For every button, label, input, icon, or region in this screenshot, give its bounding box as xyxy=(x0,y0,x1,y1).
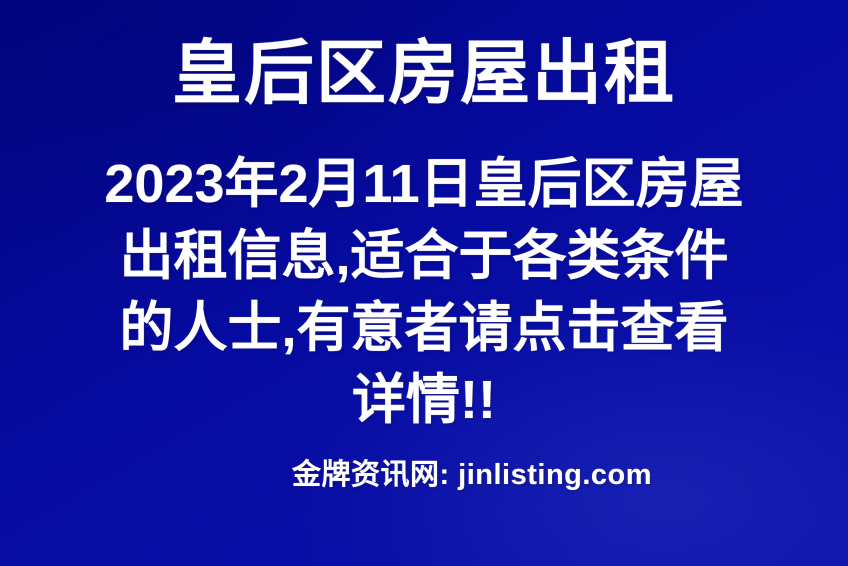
title-block: 皇后区房屋出租 xyxy=(0,28,848,118)
rental-announcement-poster: 皇后区房屋出租 2023年2月11日皇后区房屋 出租信息,适合于各类条件 的人士… xyxy=(0,0,848,566)
source-credit: 金牌资讯网: jinlisting.com xyxy=(292,455,652,495)
footer-block: 金牌资讯网: jinlisting.com xyxy=(0,455,848,495)
body-line-2: 出租信息,适合于各类条件 xyxy=(56,220,792,292)
body-line-4: 详情!! xyxy=(56,364,792,436)
poster-title: 皇后区房屋出租 xyxy=(0,28,848,118)
body-line-1: 2023年2月11日皇后区房屋 xyxy=(56,148,792,220)
body-line-3: 的人士,有意者请点击查看 xyxy=(56,292,792,364)
body-text-block: 2023年2月11日皇后区房屋 出租信息,适合于各类条件 的人士,有意者请点击查… xyxy=(0,148,848,436)
